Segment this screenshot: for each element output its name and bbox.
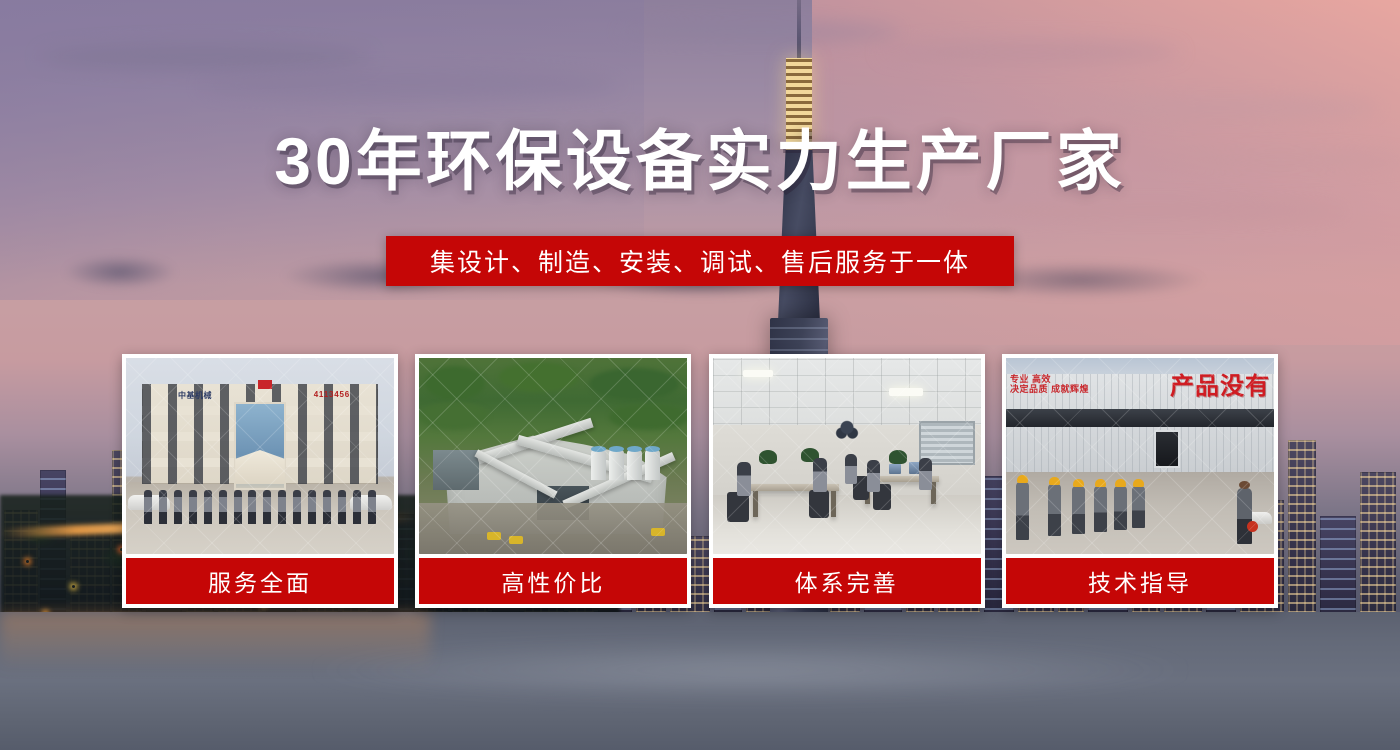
subtitle-banner: 集设计、制造、安装、调试、售后服务于一体 [386,236,1014,286]
page-title: 30年环保设备实力生产厂家 [0,128,1400,194]
card-caption-label: 高性价比 [501,564,605,598]
water-sheen [300,640,1200,700]
card-photo-factory-workers: 产品没有 专业 高效决定品质 成就辉煌 [1006,358,1274,554]
feature-card[interactable]: 体系完善 [709,354,985,608]
card-caption-label: 体系完善 [795,564,899,598]
card-photo-headquarters: 中基机械 4113456 [126,358,394,554]
feature-card[interactable]: 中基机械 4113456 服务全面 [122,354,398,608]
subtitle-text: 集设计、制造、安装、调试、售后服务于一体 [430,243,970,279]
company-sign-text: 中基机械 [178,390,212,401]
phone-number-text: 4113456 [314,390,350,399]
feature-card[interactable]: 产品没有 专业 高效决定品质 成就辉煌 技术指导 [1002,354,1278,608]
card-caption: 高性价比 [419,558,687,604]
flag-icon [258,380,272,389]
card-caption: 服务全面 [126,558,394,604]
feature-card-row: 中基机械 4113456 服务全面 [122,354,1278,608]
card-caption-label: 技术指导 [1088,564,1192,598]
promo-banner: 30年环保设备实力生产厂家 集设计、制造、安装、调试、售后服务于一体 中基机械 … [0,0,1400,750]
card-caption: 技术指导 [1006,558,1274,604]
tower-antenna [797,0,801,62]
card-photo-plant-aerial [419,358,687,554]
factory-wall-subslogan: 专业 高效决定品质 成就辉煌 [1010,374,1089,395]
factory-wall-slogan: 产品没有 [1170,366,1270,401]
wall-logo-icon [830,417,864,443]
card-photo-office [713,358,981,554]
feature-card[interactable]: 高性价比 [415,354,691,608]
card-caption-label: 服务全面 [208,564,312,598]
card-caption: 体系完善 [713,558,981,604]
